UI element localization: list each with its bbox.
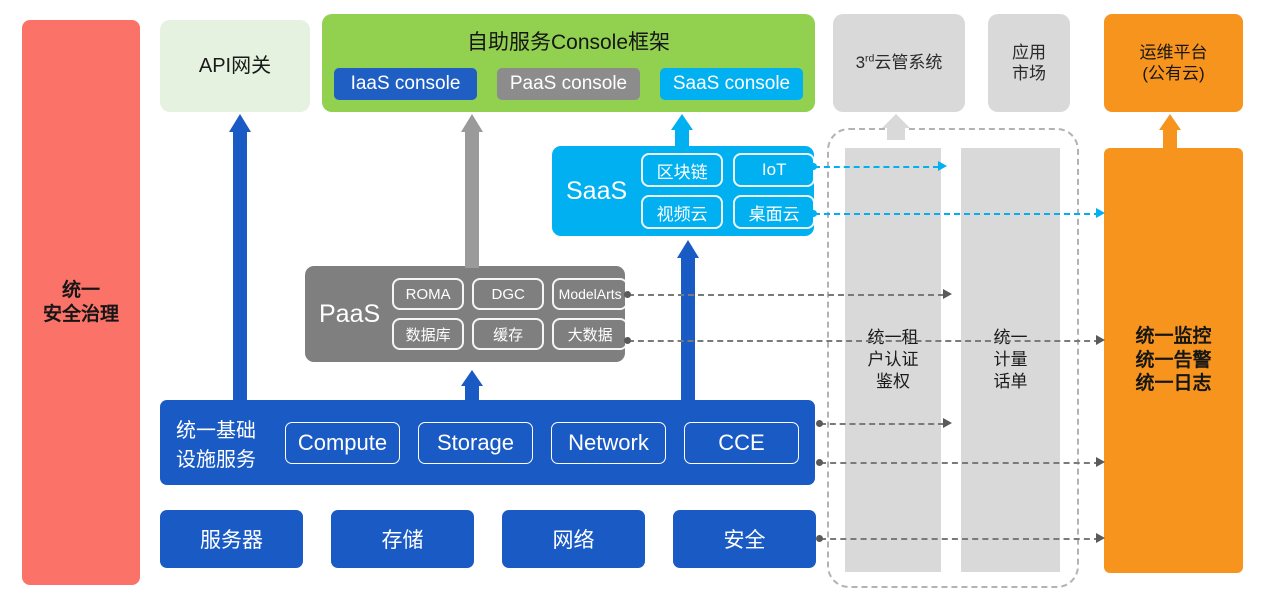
- saas-tag-desktop-cloud[interactable]: 桌面云: [733, 195, 815, 229]
- unified-tenant-auth-column: 统一租 户认证 鉴权: [845, 148, 941, 572]
- right-panel-line1: 统一监控: [1135, 325, 1211, 349]
- paas-layer-block: PaaS ROMA DGC ModelArts 数据库 缓存 大数据: [305, 266, 625, 362]
- blue-up-arrow-api-gateway-icon: [226, 114, 254, 402]
- metering-line2: 计量: [994, 349, 1028, 371]
- cyan-dashed-line-saas-to-ops: [814, 213, 1100, 215]
- app-market-box[interactable]: 应用 市场: [988, 14, 1070, 112]
- gray-dot-hardware: [816, 535, 823, 542]
- paas-layer-label: PaaS: [319, 300, 380, 329]
- gray-dot-iaas-upper: [816, 420, 823, 427]
- left-panel-line2: 安全治理: [43, 303, 119, 327]
- paas-tag-roma[interactable]: ROMA: [392, 278, 464, 310]
- saas-tag-blockchain[interactable]: 区块链: [641, 153, 723, 187]
- unified-security-governance-panel: 统一 安全治理: [22, 20, 140, 585]
- api-gateway-label: API网关: [199, 54, 271, 79]
- cyan-dot-saas-upper: [810, 163, 817, 170]
- gray-dot-paas-upper: [624, 291, 631, 298]
- orange-up-arrow-ops-platform-icon: [1156, 114, 1184, 148]
- app-market-line2: 市场: [1012, 63, 1046, 84]
- iaas-layer-label: 统一基础设施服务: [176, 414, 267, 472]
- iaas-tag-network[interactable]: Network: [551, 422, 666, 464]
- lightgray-up-arrow-third-party-icon: [882, 114, 910, 140]
- gray-dashed-line-hardware-to-ops: [820, 538, 1100, 540]
- blue-up-arrow-saas-icon: [674, 240, 702, 402]
- third-party-prefix: 3: [856, 53, 865, 72]
- iaas-tag-storage[interactable]: Storage: [418, 422, 533, 464]
- saas-tag-iot[interactable]: IoT: [733, 153, 815, 187]
- paas-tag-bigdata[interactable]: 大数据: [552, 318, 628, 350]
- app-market-line1: 应用: [1012, 42, 1046, 63]
- gray-up-arrow-paas-console-icon: [458, 114, 486, 268]
- cyan-arrowhead-ops-icon: [1096, 208, 1105, 218]
- right-panel-line2: 统一告警: [1135, 349, 1211, 373]
- right-panel-line3: 统一日志: [1135, 372, 1211, 396]
- ops-platform-line1: 运维平台: [1140, 42, 1208, 63]
- paas-console-chip[interactable]: PaaS console: [497, 68, 640, 100]
- gray-arrowhead-auth-upper-icon: [943, 289, 952, 299]
- unified-metering-column: 统一 计量 话单: [961, 148, 1060, 572]
- unified-monitoring-panel: 统一监控 统一告警 统一日志: [1104, 148, 1243, 573]
- third-party-suffix: 云管系统: [874, 53, 942, 72]
- left-panel-line1: 统一: [43, 279, 119, 303]
- cyan-up-arrow-saas-console-icon: [668, 114, 696, 148]
- hardware-item-storage[interactable]: 存储: [331, 510, 474, 568]
- ops-platform-box[interactable]: 运维平台 (公有云): [1104, 14, 1243, 112]
- gray-dot-iaas-lower: [816, 459, 823, 466]
- auth-line3: 鉴权: [868, 371, 919, 393]
- gray-arrowhead-ops-mid-icon: [1096, 457, 1105, 467]
- paas-tag-modelarts[interactable]: ModelArts: [552, 278, 628, 310]
- cyan-arrowhead-auth-icon: [938, 161, 947, 171]
- paas-tag-cache[interactable]: 缓存: [472, 318, 544, 350]
- gray-dot-paas-lower: [624, 337, 631, 344]
- iaas-layer-block: 统一基础设施服务 Compute Storage Network CCE: [160, 400, 815, 485]
- iaas-tag-compute[interactable]: Compute: [285, 422, 400, 464]
- blue-up-arrow-paas-icon: [458, 370, 486, 402]
- gray-arrowhead-auth-lower-icon: [943, 418, 952, 428]
- hardware-item-security[interactable]: 安全: [673, 510, 816, 568]
- saas-layer-label: SaaS: [566, 177, 627, 206]
- third-party-label: 3rd云管系统: [856, 52, 943, 73]
- hardware-item-network[interactable]: 网络: [502, 510, 645, 568]
- console-framework-title: 自助服务Console框架: [322, 14, 815, 56]
- self-service-console-framework: 自助服务Console框架 IaaS console PaaS console …: [322, 14, 815, 112]
- saas-tag-video-cloud[interactable]: 视频云: [641, 195, 723, 229]
- gray-dashed-line-paas-to-ops: [628, 340, 1100, 342]
- gray-dashed-line-iaas-to-ops: [820, 462, 1100, 464]
- iaas-console-chip[interactable]: IaaS console: [334, 68, 477, 100]
- gray-dashed-line-paas-to-auth: [628, 294, 944, 296]
- api-gateway-box[interactable]: API网关: [160, 20, 310, 112]
- auth-line2: 户认证: [868, 349, 919, 371]
- ops-platform-line2: (公有云): [1140, 63, 1208, 84]
- paas-tag-database[interactable]: 数据库: [392, 318, 464, 350]
- gray-arrowhead-ops-lower-icon: [1096, 533, 1105, 543]
- gray-arrowhead-ops-upper-icon: [1096, 335, 1105, 345]
- saas-layer-block: SaaS 区块链 IoT 视频云 桌面云: [552, 146, 814, 236]
- third-party-cloud-management-box[interactable]: 3rd云管系统: [833, 14, 965, 112]
- auth-line1: 统一租: [868, 327, 919, 349]
- metering-line1: 统一: [994, 327, 1028, 349]
- cyan-dot-saas-lower: [810, 210, 817, 217]
- paas-tag-dgc[interactable]: DGC: [472, 278, 544, 310]
- metering-line3: 话单: [994, 371, 1028, 393]
- saas-console-chip[interactable]: SaaS console: [660, 68, 803, 100]
- hardware-item-server[interactable]: 服务器: [160, 510, 303, 568]
- gray-dashed-line-iaas-to-auth: [820, 423, 944, 425]
- iaas-tag-cce[interactable]: CCE: [684, 422, 799, 464]
- cyan-dashed-line-saas-to-auth: [814, 166, 939, 168]
